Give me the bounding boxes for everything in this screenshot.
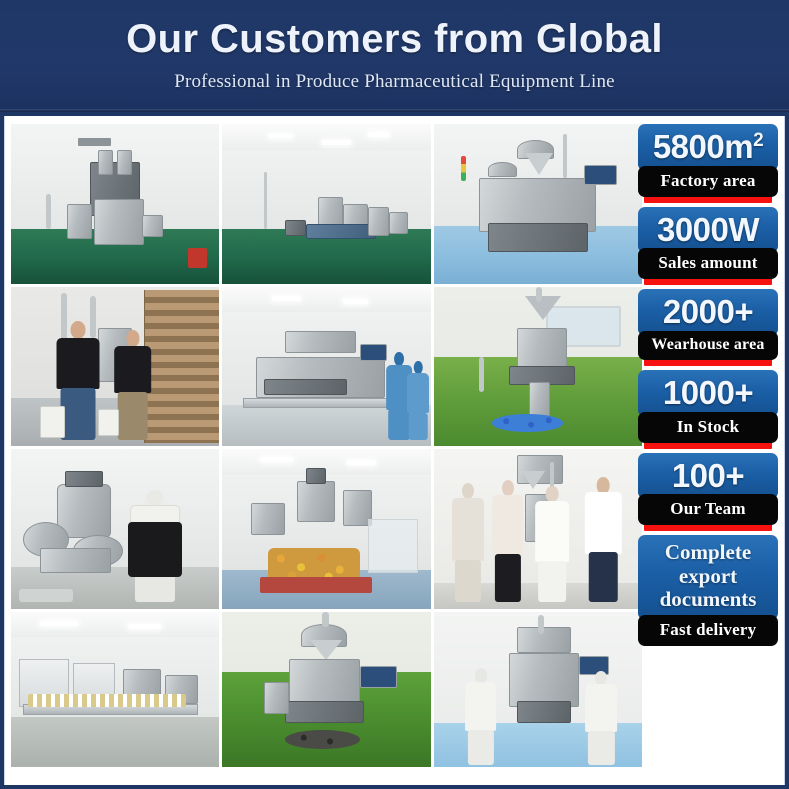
content-panel: 5800m2 Factory area 3000W Sales amount 2…: [4, 116, 785, 785]
stat-value: 1000+: [638, 370, 778, 417]
page-subtitle: Professional in Produce Pharmaceutical E…: [0, 61, 789, 93]
page-title: Our Customers from Global: [0, 0, 789, 61]
page-root: Our Customers from Global Professional i…: [0, 0, 789, 789]
photo-r3c1: [11, 449, 219, 609]
gallery-item[interactable]: [11, 287, 219, 447]
stat-divider: [644, 196, 772, 203]
gallery-item[interactable]: [434, 449, 642, 609]
fast-delivery-label: Fast delivery: [638, 615, 778, 646]
photo-r4c1: [11, 612, 219, 772]
stat-block-our-team: 100+ Our Team: [638, 453, 778, 532]
gallery-item[interactable]: [434, 287, 642, 447]
stat-block-export-documents: Complete export documents Fast delivery: [638, 535, 778, 646]
stat-value: 100+: [638, 453, 778, 500]
stat-label: Factory area: [638, 166, 778, 197]
stat-divider: [644, 278, 772, 285]
gallery-item[interactable]: [434, 124, 642, 284]
stat-divider: [644, 442, 772, 449]
photo-r4c2: [222, 612, 430, 772]
content-bottom-padding: [5, 767, 784, 785]
photo-r2c1: [11, 287, 219, 447]
person: [584, 475, 624, 603]
stat-block-wearhouse-area: 2000+ Wearhouse area: [638, 289, 778, 366]
stat-label: Sales amount: [638, 248, 778, 279]
photo-r2c3: [434, 287, 642, 447]
gallery-item[interactable]: [11, 124, 219, 284]
person: [406, 360, 431, 440]
stat-divider: [644, 359, 772, 366]
gallery-item[interactable]: [222, 449, 430, 609]
person: [584, 669, 619, 765]
photo-r4c3: [434, 612, 642, 772]
gallery-item[interactable]: [222, 612, 430, 772]
photo-r3c2: [222, 449, 430, 609]
export-documents-text: Complete export documents: [638, 535, 778, 620]
stat-block-sales-amount: 3000W Sales amount: [638, 207, 778, 286]
photo-r3c3: [434, 449, 642, 609]
stat-value: 2000+: [638, 289, 778, 336]
person: [463, 666, 498, 765]
gallery-item[interactable]: [222, 287, 430, 447]
photo-r2c2: [222, 287, 430, 447]
photo-r1c3: [434, 124, 642, 284]
gallery-item[interactable]: [222, 124, 430, 284]
person: [450, 481, 485, 602]
page-header: Our Customers from Global Professional i…: [0, 0, 789, 112]
gallery-item[interactable]: [434, 612, 642, 772]
photo-r1c2: [222, 124, 430, 284]
gallery-item[interactable]: [11, 612, 219, 772]
stat-value: 3000W: [638, 207, 778, 254]
stat-block-in-stock: 1000+ In Stock: [638, 370, 778, 449]
stat-divider: [644, 524, 772, 531]
stat-value: 5800m2: [638, 124, 778, 171]
person: [534, 484, 571, 602]
stat-block-factory-area: 5800m2 Factory area: [638, 124, 778, 203]
person: [490, 478, 525, 602]
gallery-item[interactable]: [11, 449, 219, 609]
photo-r1c1: [11, 124, 219, 284]
stat-label: Our Team: [638, 494, 778, 525]
stats-column: 5800m2 Factory area 3000W Sales amount 2…: [638, 124, 778, 771]
stat-label: In Stock: [638, 412, 778, 443]
photo-gallery-grid: [11, 124, 642, 771]
header-divider: [0, 109, 789, 112]
stat-label: Wearhouse area: [638, 331, 778, 360]
